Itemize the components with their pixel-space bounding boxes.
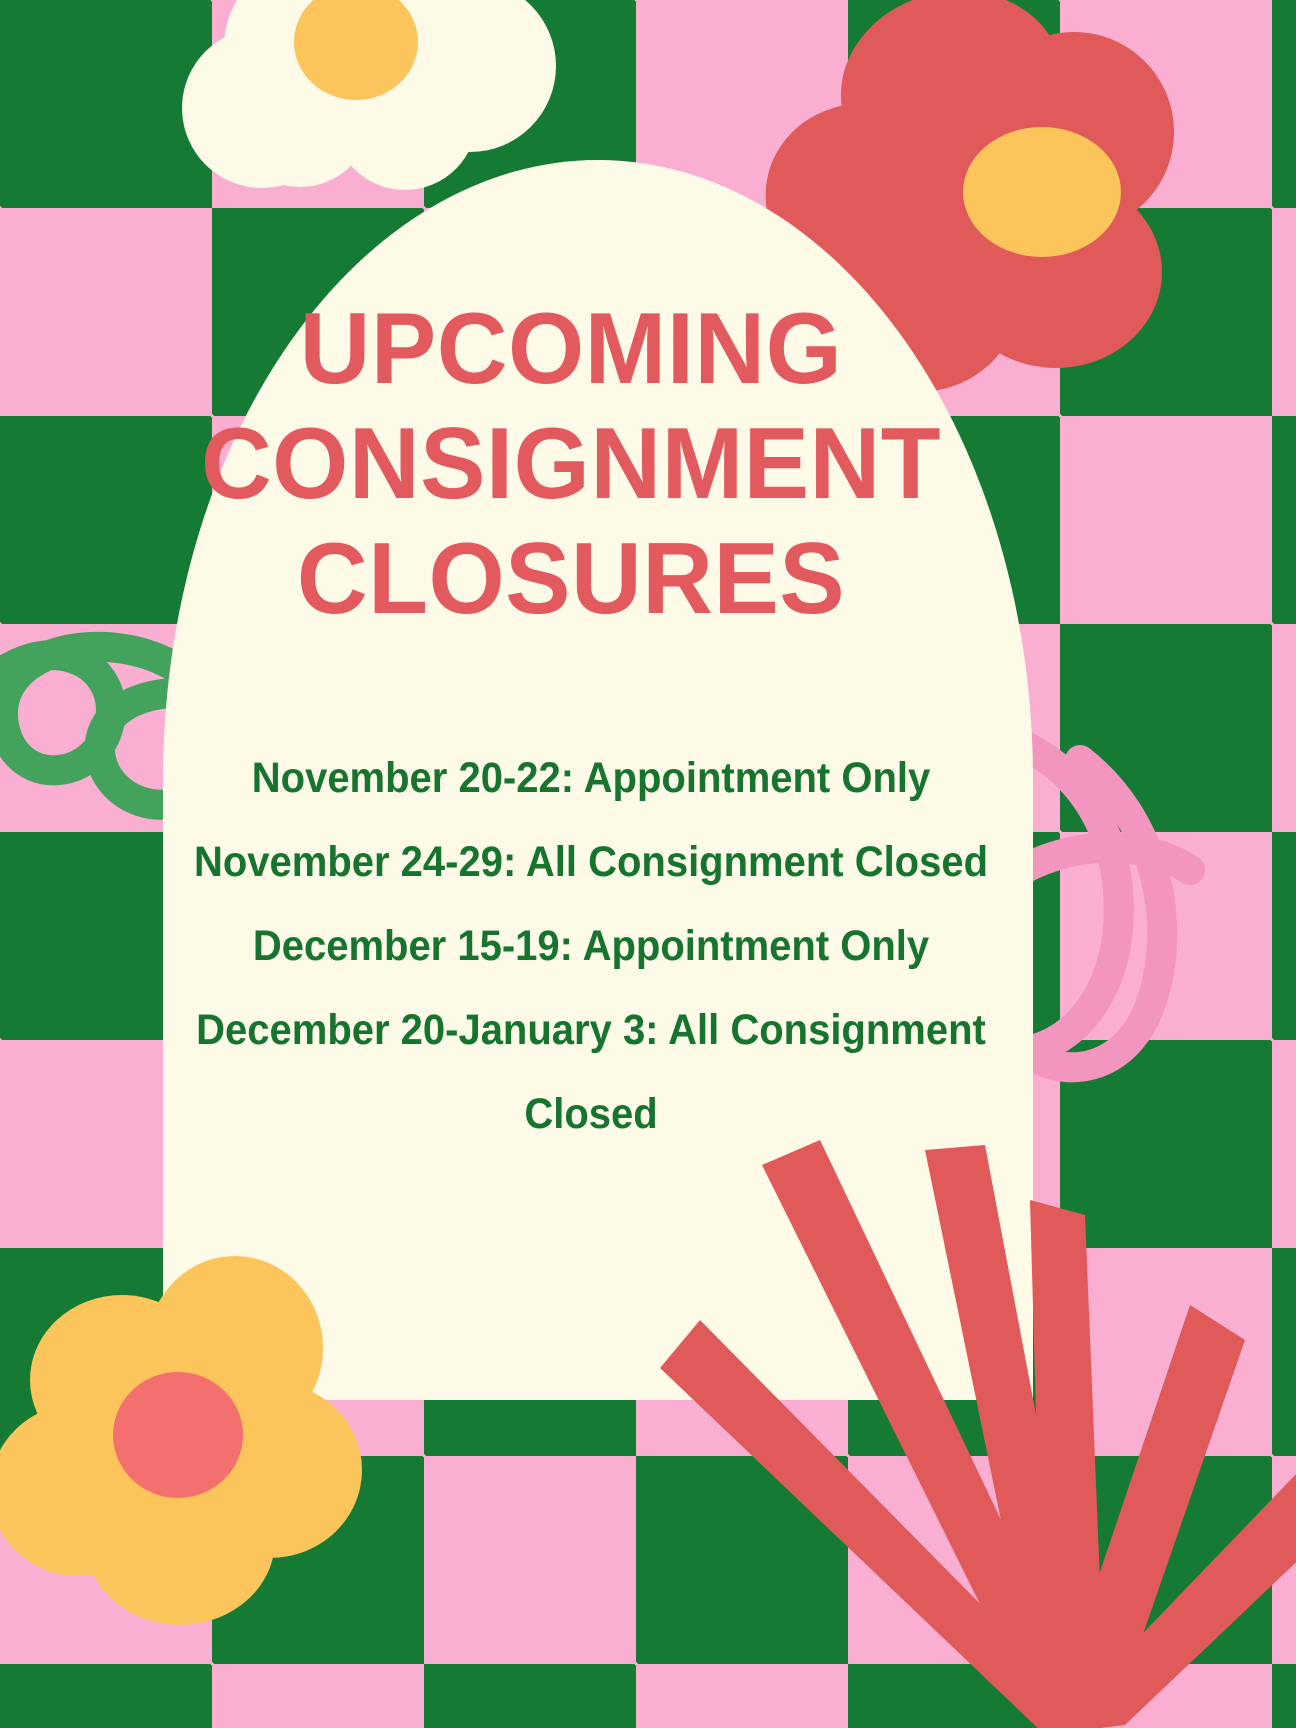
closure-list: November 20-22: Appointment Only Novembe… bbox=[141, 737, 1041, 1156]
poster-content: UPCOMING CONSIGNMENT CLOSURES November 2… bbox=[163, 160, 1033, 1400]
list-item: December 15-19: Appointment Only bbox=[172, 905, 1009, 989]
list-item: December 20-January 3: All Consignment C… bbox=[172, 989, 1009, 1157]
page-title: UPCOMING CONSIGNMENT CLOSURES bbox=[95, 292, 1046, 637]
list-item: November 20-22: Appointment Only bbox=[172, 737, 1009, 821]
poster-canvas: UPCOMING CONSIGNMENT CLOSURES November 2… bbox=[0, 0, 1296, 1728]
list-item: November 24-29: All Consignment Closed bbox=[172, 821, 1009, 905]
